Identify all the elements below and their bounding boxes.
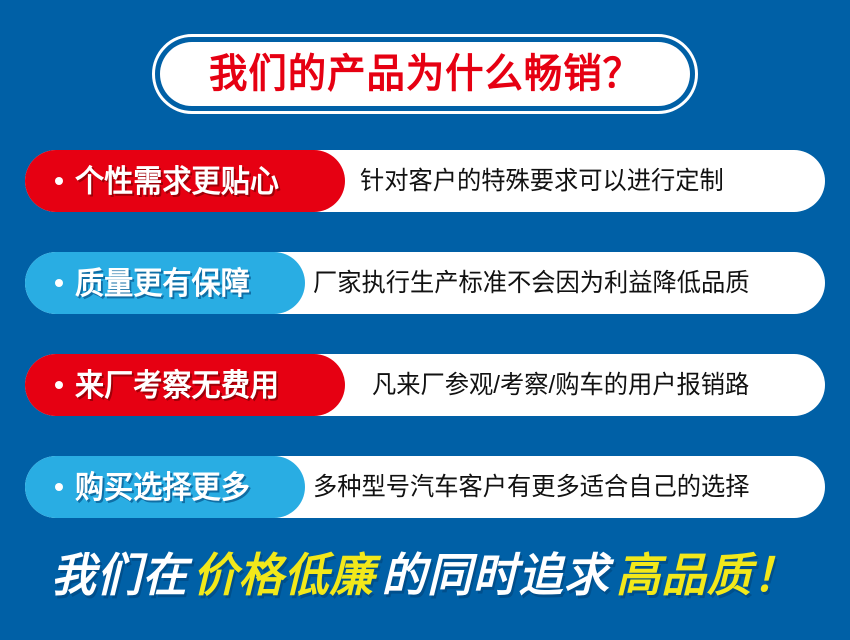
feature-badge-1: 个性需求更贴心 <box>25 150 345 212</box>
feature-description: 凡来厂参观/考察/购车的用户报销路 <box>372 354 749 416</box>
feature-badge-2: 质量更有保障 <box>25 252 305 314</box>
bullet-dot-icon <box>55 177 63 185</box>
list-item: 针对客户的特殊要求可以进行定制 个性需求更贴心 <box>0 150 850 212</box>
feature-badge-3: 来厂考察无费用 <box>25 354 345 416</box>
list-item: 多种型号汽车客户有更多适合自己的选择 购买选择更多 <box>0 456 850 518</box>
bullet-dot-icon <box>55 483 63 491</box>
feature-badge-label: 质量更有保障 <box>75 268 250 299</box>
list-item: 凡来厂参观/考察/购车的用户报销路 来厂考察无费用 <box>0 354 850 416</box>
feature-description: 针对客户的特殊要求可以进行定制 <box>360 150 724 212</box>
promo-banner: 我们的产品为什么畅销？ 针对客户的特殊要求可以进行定制 个性需求更贴心 厂家执行… <box>0 0 850 640</box>
page-title: 我们的产品为什么畅销？ <box>209 54 642 94</box>
feature-description: 厂家执行生产标准不会因为利益降低品质 <box>313 252 750 314</box>
footer-part-2: 价格低廉 <box>193 552 375 598</box>
bullet-dot-icon <box>55 381 63 389</box>
footer-part-1: 我们在 <box>51 552 188 598</box>
feature-badge-label: 来厂考察无费用 <box>75 370 279 401</box>
title-pill: 我们的产品为什么畅销？ <box>152 34 698 114</box>
footer-part-3: 的同时追求 <box>382 552 610 598</box>
feature-badge-label: 个性需求更贴心 <box>75 166 279 197</box>
title-pill-inner: 我们的产品为什么畅销？ <box>160 42 690 106</box>
footer-part-4: 高品质！ <box>616 552 798 598</box>
feature-badge-4: 购买选择更多 <box>25 456 305 518</box>
feature-list: 针对客户的特殊要求可以进行定制 个性需求更贴心 厂家执行生产标准不会因为利益降低… <box>0 150 850 558</box>
list-item: 厂家执行生产标准不会因为利益降低品质 质量更有保障 <box>0 252 850 314</box>
feature-description: 多种型号汽车客户有更多适合自己的选择 <box>313 456 750 518</box>
footer-slogan: 我们在 价格低廉 的同时追求 高品质！ <box>0 540 850 610</box>
bullet-dot-icon <box>55 279 63 287</box>
feature-badge-label: 购买选择更多 <box>75 472 250 503</box>
